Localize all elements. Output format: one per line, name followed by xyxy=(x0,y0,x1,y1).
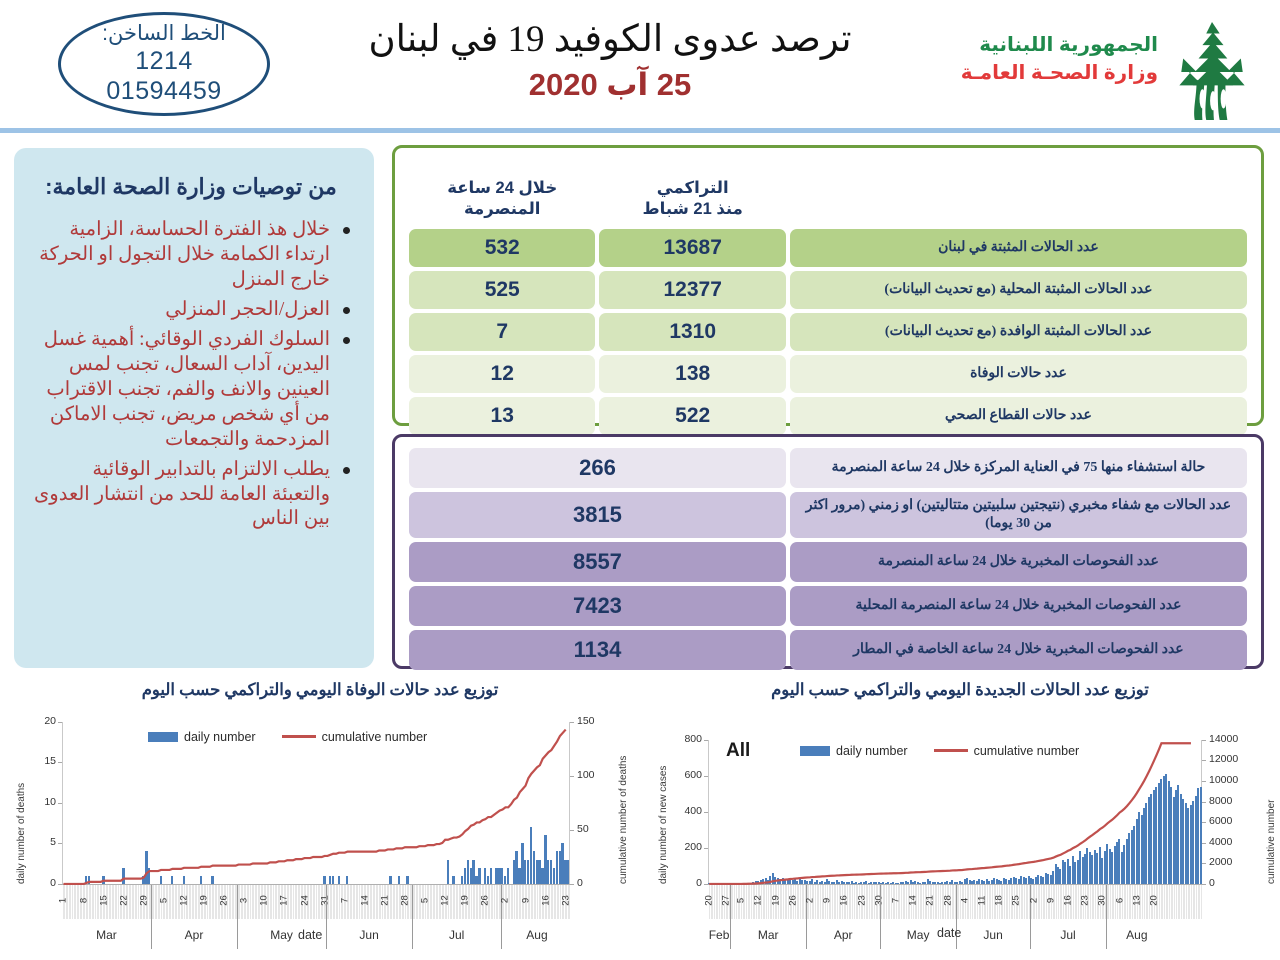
y-axis-tick-label: 5 xyxy=(22,836,56,848)
y2-axis-tickmark xyxy=(1202,760,1206,761)
row-label: عدد الفحوصات المخبرية خلال 24 ساعة الخاص… xyxy=(790,630,1247,670)
x-tick-separator xyxy=(154,885,155,919)
row-value: 266 xyxy=(409,448,786,488)
bar xyxy=(398,876,400,884)
y-axis-title: daily number of new cases xyxy=(658,765,669,883)
x-tick-separator xyxy=(971,885,972,919)
bar xyxy=(346,876,348,884)
y-axis-tick-label: 0 xyxy=(22,877,56,889)
x-axis-tick-label: 16 xyxy=(1063,890,1074,910)
x-tick-separator xyxy=(111,885,112,919)
recommendations-title: من توصيات وزارة الصحة العامة: xyxy=(30,174,352,200)
x-tick-separator xyxy=(799,885,800,919)
x-axis-title: date xyxy=(298,928,322,942)
x-tick-separator xyxy=(1173,885,1174,919)
x-tick-separator xyxy=(117,885,118,919)
y2-axis-tick-label: 6000 xyxy=(1209,815,1249,827)
row-cumulative: 522 xyxy=(599,397,785,435)
purple-table: حالة استشفاء منها 75 في العناية المركزة … xyxy=(405,444,1251,674)
x-tick-separator xyxy=(131,885,132,919)
y2-axis-tick-label: 50 xyxy=(577,823,617,835)
x-axis-tick-label: 19 xyxy=(770,890,781,910)
x-tick-separator xyxy=(214,885,215,919)
row-label: عدد الحالات مع شفاء مخبري (نتيجتين سلبيت… xyxy=(790,492,1247,538)
chart-title: توزيع عدد حالات الوفاة اليومي والتراكمي … xyxy=(0,678,640,700)
x-tick-separator xyxy=(94,885,95,919)
month-label: Jun xyxy=(326,928,412,942)
legend-swatch-line xyxy=(934,749,968,752)
x-axis-tick-label: 18 xyxy=(994,890,1005,910)
x-tick-separator xyxy=(137,885,138,919)
x-tick-separator xyxy=(991,885,992,919)
bar xyxy=(183,876,185,884)
x-axis-tick-label: 9 xyxy=(520,890,531,910)
x-tick-separator xyxy=(134,885,135,919)
x-axis-tick-label: 23 xyxy=(560,890,571,910)
x-tick-separator xyxy=(715,885,716,919)
x-tick-separator xyxy=(973,885,974,919)
bar xyxy=(447,860,449,884)
y2-axis-tick-label: 2000 xyxy=(1209,856,1249,868)
chart-legend: daily numbercumulative number xyxy=(148,730,427,744)
x-axis-tick-label: 12 xyxy=(753,890,764,910)
y2-axis-tickmark xyxy=(1202,843,1206,844)
x-tick-separator xyxy=(194,885,195,919)
row-value: 7423 xyxy=(409,586,786,626)
x-tick-separator xyxy=(1005,885,1006,919)
month-label: Aug xyxy=(501,928,573,942)
x-tick-separator xyxy=(784,885,785,919)
x-axis-tick-label: 26 xyxy=(480,890,491,910)
x-tick-separator xyxy=(455,885,456,919)
y2-axis-tickmark xyxy=(1202,781,1206,782)
y-axis-tick-label: 400 xyxy=(668,805,702,817)
x-tick-separator xyxy=(1170,885,1171,919)
x-tick-separator xyxy=(1160,885,1161,919)
legend-label-cumulative: cumulative number xyxy=(322,730,428,744)
x-tick-separator xyxy=(251,885,252,919)
y-axis-tickmark xyxy=(58,803,62,804)
y2-axis-tickmark xyxy=(1202,740,1206,741)
header-cumulative-line1: التراكمي xyxy=(601,178,783,198)
recommendation-text: السلوك الفردي الوقائي: أهمية غسل اليدين،… xyxy=(44,329,330,450)
table-row: عدد الفحوصات المخبرية خلال 24 ساعة المنص… xyxy=(409,542,1247,582)
x-tick-separator xyxy=(536,885,537,919)
bar xyxy=(567,860,569,884)
y2-axis-tick-label: 4000 xyxy=(1209,836,1249,848)
list-item: خلال هذ الفترة الحساسة، الزامية ارتداء ا… xyxy=(30,218,352,293)
x-tick-separator xyxy=(315,885,316,919)
x-tick-separator xyxy=(493,885,494,919)
x-axis-tick-label: 12 xyxy=(178,890,189,910)
x-axis-tick-label: 2 xyxy=(500,890,511,910)
legend-label-daily: daily number xyxy=(184,730,256,744)
x-tick-separator xyxy=(515,885,516,919)
x-tick-separator xyxy=(1163,885,1164,919)
x-tick-separator xyxy=(1168,885,1169,919)
x-axis-tick-label: 20 xyxy=(1149,890,1160,910)
header-blank xyxy=(790,159,1247,225)
y2-axis-tick-label: 12000 xyxy=(1209,753,1249,765)
bullet-icon xyxy=(343,227,350,234)
x-axis-tick-label: 28 xyxy=(399,890,410,910)
x-axis-tick-label: 14 xyxy=(359,890,370,910)
x-axis-tick-label: 6 xyxy=(1114,890,1125,910)
bar xyxy=(490,868,492,884)
page-header: الخط الساخن: 1214 01594459 ترصد عدوى الك… xyxy=(0,0,1280,132)
row-label: عدد الفحوصات المخبرية خلال 24 ساعة المنص… xyxy=(790,586,1247,626)
x-tick-separator xyxy=(1128,885,1129,919)
x-axis-tick-label: 21 xyxy=(379,890,390,910)
y2-axis-tickmark xyxy=(570,776,574,777)
x-axis-tick-label: 29 xyxy=(138,890,149,910)
x-tick-separator xyxy=(1023,885,1024,919)
y-axis-tickmark xyxy=(704,740,708,741)
x-axis-tick-label: 13 xyxy=(1131,890,1142,910)
x-tick-separator xyxy=(254,885,255,919)
y2-axis-tick-label: 0 xyxy=(1209,877,1249,889)
x-tick-separator xyxy=(538,885,539,919)
x-tick-separator xyxy=(868,885,869,919)
x-tick-separator xyxy=(1077,885,1078,919)
month-label: Feb xyxy=(708,928,730,942)
y2-axis-tickmark xyxy=(1202,863,1206,864)
x-tick-separator xyxy=(1187,885,1188,919)
x-tick-separator xyxy=(435,885,436,919)
x-tick-separator xyxy=(870,885,871,919)
row-label: عدد الحالات المثبتة في لبنان xyxy=(790,229,1247,267)
header-divider xyxy=(0,128,1280,133)
x-axis-tick-label: 30 xyxy=(873,890,884,910)
chart-annotation: All xyxy=(726,740,750,762)
recovery-tests-table: حالة استشفاء منها 75 في العناية المركزة … xyxy=(392,434,1264,669)
x-tick-separator xyxy=(472,885,473,919)
y-axis-tick-label: 20 xyxy=(22,715,56,727)
x-tick-separator xyxy=(905,885,906,919)
month-label: Mar xyxy=(62,928,151,942)
x-tick-separator xyxy=(988,885,989,919)
x-tick-separator xyxy=(1195,885,1196,919)
bar xyxy=(323,876,325,884)
y-axis-tickmark xyxy=(704,776,708,777)
x-axis-tick-label: 7 xyxy=(891,890,902,910)
month-label: Apr xyxy=(806,928,880,942)
x-tick-separator xyxy=(114,885,115,919)
header-cumulative-line2: منذ 21 شباط xyxy=(601,199,783,219)
y-axis-tick-label: 10 xyxy=(22,796,56,808)
x-tick-separator xyxy=(294,885,295,919)
month-label: Apr xyxy=(151,928,237,942)
legend-label-daily: daily number xyxy=(836,744,908,758)
x-tick-separator xyxy=(782,885,783,919)
x-tick-separator xyxy=(887,885,888,919)
x-tick-separator xyxy=(1200,885,1201,919)
x-axis-tick-label: 23 xyxy=(1080,890,1091,910)
legend-item-daily: daily number xyxy=(148,730,256,744)
ministry-logo-text: الجمهورية اللبنانية وزارة الصحـة العامـة xyxy=(943,32,1158,85)
chart-title: توزيع عدد الحالات الجديدة اليومي والتراك… xyxy=(640,678,1280,700)
x-tick-separator xyxy=(1008,885,1009,919)
bullet-icon xyxy=(343,337,350,344)
x-tick-separator xyxy=(395,885,396,919)
y2-axis-title: cumulative number of deaths xyxy=(618,755,629,883)
bar xyxy=(406,876,408,884)
x-tick-separator xyxy=(375,885,376,919)
table-row: عدد الحالات المثبتة الوافدة (مع تحديث ال… xyxy=(409,313,1247,351)
x-tick-separator xyxy=(1192,885,1193,919)
bullet-icon xyxy=(343,467,350,474)
y2-axis-tickmark xyxy=(570,722,574,723)
x-tick-separator xyxy=(939,885,940,919)
y-axis-tickmark xyxy=(58,762,62,763)
month-label: Jun xyxy=(956,928,1030,942)
x-axis-tick-label: 24 xyxy=(299,890,310,910)
x-tick-separator xyxy=(1145,885,1146,919)
ministry-label: وزارة الصحـة العامـة xyxy=(943,60,1158,85)
chart-legend: daily numbercumulative number xyxy=(800,744,1079,758)
x-axis-tick-label: 20 xyxy=(704,890,715,910)
x-axis-tick-label: 2 xyxy=(804,890,815,910)
x-tick-separator xyxy=(71,885,72,919)
x-tick-separator xyxy=(415,885,416,919)
table-row: عدد الحالات المثبتة في لبنان 13687 532 xyxy=(409,229,1247,267)
legend-swatch-bar xyxy=(148,732,178,742)
bar xyxy=(148,868,150,884)
y2-axis-tickmark xyxy=(1202,822,1206,823)
x-axis-tick-label: 2 xyxy=(1028,890,1039,910)
bar xyxy=(171,876,173,884)
bar xyxy=(332,876,334,884)
table-row: عدد الحالات المثبتة المحلية (مع تحديث ال… xyxy=(409,271,1247,309)
cases-plot-area: 0200400600800020004000600080001000012000… xyxy=(640,700,1280,952)
row-value: 8557 xyxy=(409,542,786,582)
x-tick-separator xyxy=(96,885,97,919)
x-axis-tick-label: 21 xyxy=(925,890,936,910)
x-tick-separator xyxy=(1175,885,1176,919)
bar xyxy=(708,883,710,884)
table-header-row: التراكمي منذ 21 شباط خلال 24 ساعة المنصر… xyxy=(409,159,1247,225)
x-axis-tick-label: 5 xyxy=(420,890,431,910)
x-tick-separator xyxy=(495,885,496,919)
x-tick-separator xyxy=(1059,885,1060,919)
x-tick-separator xyxy=(475,885,476,919)
x-tick-separator xyxy=(1109,885,1110,919)
x-tick-separator xyxy=(338,885,339,919)
bar xyxy=(200,876,202,884)
x-axis-tick-label: 26 xyxy=(787,890,798,910)
x-tick-separator xyxy=(922,885,923,919)
table-row: حالة استشفاء منها 75 في العناية المركزة … xyxy=(409,448,1247,488)
x-axis-tick-label: 31 xyxy=(319,890,330,910)
x-tick-separator xyxy=(335,885,336,919)
x-tick-separator xyxy=(432,885,433,919)
x-tick-separator xyxy=(332,885,333,919)
y2-axis-tickmark xyxy=(1202,802,1206,803)
x-tick-separator xyxy=(819,885,820,919)
x-tick-separator xyxy=(174,885,175,919)
x-tick-separator xyxy=(73,885,74,919)
row-label: عدد الفحوصات المخبرية خلال 24 ساعة المنص… xyxy=(790,542,1247,582)
bar xyxy=(452,876,454,884)
x-axis-title: date xyxy=(937,926,961,940)
month-label: Aug xyxy=(1106,928,1167,942)
x-axis-tick-label: 9 xyxy=(822,890,833,910)
y-axis-tick-label: 15 xyxy=(22,755,56,767)
ministry-logo: الجمهورية اللبنانية وزارة الصحـة العامـة xyxy=(936,18,1266,118)
x-tick-separator xyxy=(292,885,293,919)
x-tick-separator xyxy=(1177,885,1178,919)
x-tick-separator xyxy=(272,885,273,919)
bullet-icon xyxy=(343,307,350,314)
x-tick-separator xyxy=(1180,885,1181,919)
bar xyxy=(211,876,213,884)
plot-frame xyxy=(62,722,570,884)
x-tick-separator xyxy=(171,885,172,919)
confirmed-cases-table: التراكمي منذ 21 شباط خلال 24 ساعة المنصر… xyxy=(392,145,1264,426)
x-axis-tick-label: 16 xyxy=(540,890,551,910)
x-axis-tick-label: 17 xyxy=(279,890,290,910)
bar xyxy=(389,876,391,884)
x-tick-separator xyxy=(1165,885,1166,919)
x-tick-separator xyxy=(556,885,557,919)
x-tick-separator xyxy=(559,885,560,919)
legend-swatch-bar xyxy=(800,746,830,756)
table-row: عدد الفحوصات المخبرية خلال 24 ساعة المنص… xyxy=(409,586,1247,626)
y2-axis-tick-label: 100 xyxy=(577,769,617,781)
report-date: 25 آب 2020 xyxy=(300,66,920,103)
page-title: ترصد عدوى الكوفيد 19 في لبنان xyxy=(300,18,920,62)
bar xyxy=(478,868,480,884)
y2-axis-tick-label: 0 xyxy=(577,877,617,889)
x-tick-separator xyxy=(747,885,748,919)
month-label: Jul xyxy=(1030,928,1106,942)
row-cumulative: 13687 xyxy=(599,229,785,267)
bar xyxy=(338,876,340,884)
x-axis-tick-label: 3 xyxy=(239,890,250,910)
x-tick-separator xyxy=(553,885,554,919)
row-cumulative: 1310 xyxy=(599,313,785,351)
hotline-badge: الخط الساخن: 1214 01594459 xyxy=(58,12,270,116)
x-axis-tick-label: 8 xyxy=(78,890,89,910)
x-tick-separator xyxy=(452,885,453,919)
y-axis-tickmark xyxy=(58,843,62,844)
x-tick-separator xyxy=(718,885,719,919)
x-tick-separator xyxy=(211,885,212,919)
list-item: السلوك الفردي الوقائي: أهمية غسل اليدين،… xyxy=(30,328,352,453)
x-axis-tick-label: 14 xyxy=(908,890,919,910)
row-last24: 532 xyxy=(409,229,595,267)
x-tick-separator xyxy=(1094,885,1095,919)
x-tick-separator xyxy=(91,885,92,919)
x-axis-tick-label: 25 xyxy=(1011,890,1022,910)
legend-swatch-line xyxy=(282,735,316,738)
x-tick-separator xyxy=(372,885,373,919)
recommendation-text: العزل/الحجر المنزلي xyxy=(165,299,330,320)
y-axis-tickmark xyxy=(58,722,62,723)
table-row: عدد حالات الوفاة 138 12 xyxy=(409,355,1247,393)
row-last24: 13 xyxy=(409,397,595,435)
x-tick-separator xyxy=(191,885,192,919)
x-tick-separator xyxy=(1126,885,1127,919)
y2-axis-title: cumulative number xyxy=(1266,799,1277,883)
y2-axis-tick-label: 14000 xyxy=(1209,733,1249,745)
x-tick-separator xyxy=(1185,885,1186,919)
x-tick-separator xyxy=(234,885,235,919)
row-value: 1134 xyxy=(409,630,786,670)
x-tick-separator xyxy=(1111,885,1112,919)
deaths-chart: توزيع عدد حالات الوفاة اليومي والتراكمي … xyxy=(0,678,640,960)
x-tick-separator xyxy=(801,885,802,919)
x-tick-separator xyxy=(767,885,768,919)
x-tick-separator xyxy=(317,885,318,919)
x-tick-separator xyxy=(833,885,834,919)
y-axis-tick-label: 600 xyxy=(668,769,702,781)
x-tick-separator xyxy=(1202,885,1203,919)
row-label: عدد الحالات المثبتة المحلية (مع تحديث ال… xyxy=(790,271,1247,309)
title-block: ترصد عدوى الكوفيد 19 في لبنان 25 آب 2020 xyxy=(300,18,920,103)
row-label: حالة استشفاء منها 75 في العناية المركزة … xyxy=(790,448,1247,488)
x-axis-tick-label: 9 xyxy=(1045,890,1056,910)
x-tick-separator xyxy=(297,885,298,919)
row-label: عدد حالات القطاع الصحي xyxy=(790,397,1247,435)
table-row: عدد الفحوصات المخبرية خلال 24 ساعة الخاص… xyxy=(409,630,1247,670)
x-axis-tick-label: 26 xyxy=(219,890,230,910)
x-tick-separator xyxy=(76,885,77,919)
x-tick-separator xyxy=(733,885,734,919)
y-axis-tick-label: 800 xyxy=(668,733,702,745)
x-tick-separator xyxy=(1190,885,1191,919)
bar xyxy=(122,868,124,884)
row-cumulative: 138 xyxy=(599,355,785,393)
x-axis-tick-label: 12 xyxy=(440,890,451,910)
row-label: عدد الحالات المثبتة الوافدة (مع تحديث ال… xyxy=(790,313,1247,351)
x-tick-separator xyxy=(1025,885,1026,919)
y-axis-tick-label: 0 xyxy=(668,877,702,889)
x-tick-separator xyxy=(352,885,353,919)
month-label: Mar xyxy=(730,928,806,942)
x-axis-tick-label: 5 xyxy=(736,890,747,910)
y-axis-tickmark xyxy=(704,812,708,813)
x-tick-separator xyxy=(1197,885,1198,919)
x-tick-separator xyxy=(816,885,817,919)
row-cumulative: 12377 xyxy=(599,271,785,309)
hotline-number-2: 01594459 xyxy=(106,76,221,106)
x-tick-separator xyxy=(919,885,920,919)
table-row: عدد الحالات مع شفاء مخبري (نتيجتين سلبيت… xyxy=(409,492,1247,538)
row-label: عدد حالات الوفاة xyxy=(790,355,1247,393)
y-axis-tick-label: 200 xyxy=(668,841,702,853)
hotline-label: الخط الساخن: xyxy=(102,22,226,46)
x-tick-separator xyxy=(355,885,356,919)
x-tick-separator xyxy=(902,885,903,919)
row-last24: 7 xyxy=(409,313,595,351)
x-tick-separator xyxy=(937,885,938,919)
bar xyxy=(160,876,162,884)
cases-chart: توزيع عدد الحالات الجديدة اليومي والتراك… xyxy=(640,678,1280,960)
y2-axis-tick-label: 8000 xyxy=(1209,795,1249,807)
x-tick-separator xyxy=(392,885,393,919)
x-axis-tick-label: 7 xyxy=(339,890,350,910)
x-tick-separator xyxy=(1057,885,1058,919)
x-tick-separator xyxy=(518,885,519,919)
x-tick-separator xyxy=(274,885,275,919)
x-tick-separator xyxy=(533,885,534,919)
y2-axis-tick-label: 150 xyxy=(577,715,617,727)
y2-axis-tick-label: 10000 xyxy=(1209,774,1249,786)
x-tick-separator xyxy=(312,885,313,919)
x-tick-separator xyxy=(1143,885,1144,919)
header-cumulative: التراكمي منذ 21 شباط xyxy=(599,159,785,225)
